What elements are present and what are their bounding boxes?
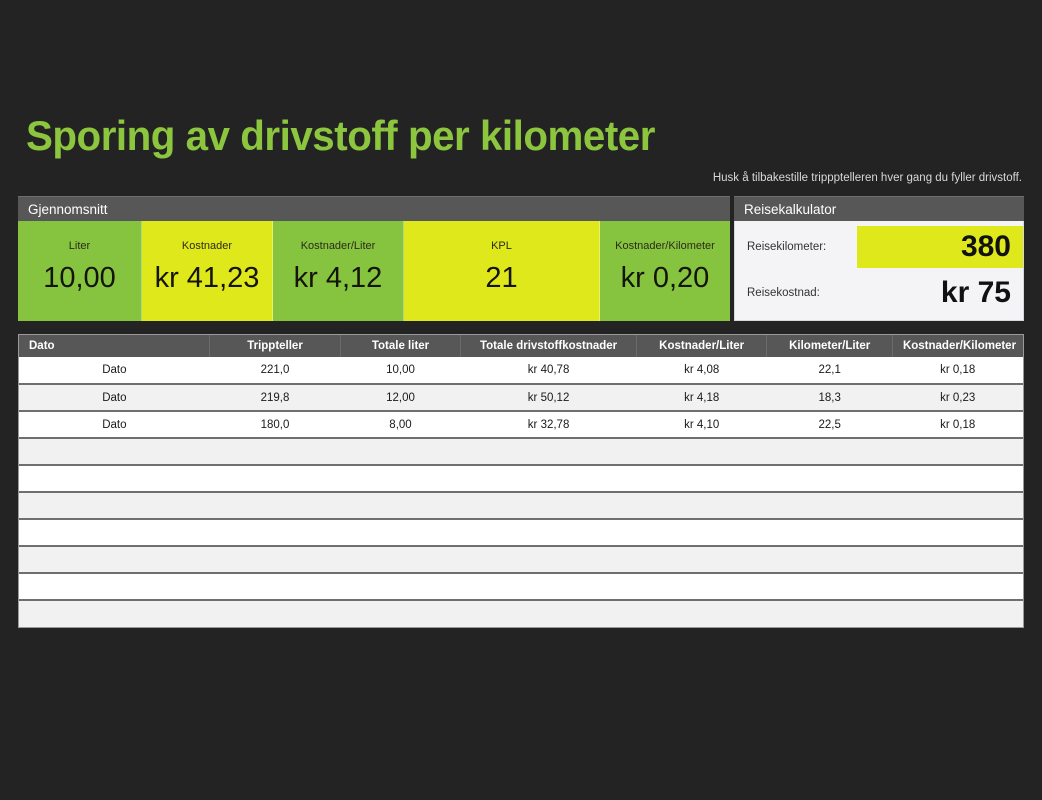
table-cell[interactable]	[19, 519, 210, 546]
summary-panels: Gjennomsnitt Liter10,00Kostnaderkr 41,23…	[18, 196, 1024, 321]
table-cell[interactable]	[636, 465, 767, 492]
page-subtitle: Husk å tilbakestille trippptelleren hver…	[713, 172, 1022, 184]
average-cell-label: Kostnader	[182, 240, 232, 253]
table-row: Dato219,812,00kr 50,12kr 4,1818,3kr 0,23	[19, 384, 1023, 411]
travel-cost-row: Reisekostnad: kr 75	[735, 271, 1023, 315]
table-cell[interactable]	[461, 465, 637, 492]
table-cell[interactable]	[210, 519, 341, 546]
travel-distance-input[interactable]: 380	[857, 226, 1023, 268]
travel-distance-row: Reisekilometer: 380	[735, 225, 1023, 269]
table-row: Dato221,010,00kr 40,78kr 4,0822,1kr 0,18	[19, 357, 1023, 384]
table-cell[interactable]	[210, 573, 341, 600]
travel-calculator-body: Reisekilometer: 380 Reisekostnad: kr 75	[734, 221, 1024, 321]
table-cell[interactable]: 22,5	[767, 411, 893, 438]
table-cell[interactable]	[767, 519, 893, 546]
table-cell[interactable]	[340, 519, 460, 546]
fuel-log-table-container: DatoTripptellerTotale literTotale drivst…	[18, 334, 1024, 628]
table-cell[interactable]	[210, 546, 341, 573]
table-cell[interactable]: kr 0,18	[892, 411, 1023, 438]
average-cell-label: Kostnader/Liter	[301, 240, 376, 253]
table-cell[interactable]	[767, 546, 893, 573]
table-cell[interactable]: 12,00	[340, 384, 460, 411]
average-cell-value: kr 41,23	[155, 262, 260, 294]
table-cell[interactable]	[19, 546, 210, 573]
table-cell[interactable]	[19, 492, 210, 519]
table-cell[interactable]	[461, 573, 637, 600]
table-cell[interactable]	[340, 573, 460, 600]
table-row	[19, 438, 1023, 465]
table-cell[interactable]: 219,8	[210, 384, 341, 411]
table-cell[interactable]	[19, 465, 210, 492]
table-cell[interactable]	[892, 438, 1023, 465]
table-cell[interactable]	[892, 600, 1023, 627]
table-cell[interactable]: 180,0	[210, 411, 341, 438]
table-cell[interactable]	[19, 573, 210, 600]
table-cell[interactable]	[19, 600, 210, 627]
average-cell-4: Kostnader/Kilometerkr 0,20	[600, 221, 730, 321]
table-row	[19, 465, 1023, 492]
average-cell-label: KPL	[491, 240, 512, 253]
table-cell[interactable]	[636, 600, 767, 627]
averages-row: Liter10,00Kostnaderkr 41,23Kostnader/Lit…	[18, 221, 730, 321]
average-cell-value: kr 4,12	[294, 262, 383, 294]
travel-calculator-heading: Reisekalkulator	[734, 196, 1024, 221]
table-cell[interactable]	[210, 492, 341, 519]
table-cell[interactable]	[892, 546, 1023, 573]
table-cell[interactable]	[210, 465, 341, 492]
fuel-log-table: DatoTripptellerTotale literTotale drivst…	[19, 335, 1023, 627]
table-cell[interactable]	[892, 492, 1023, 519]
table-cell[interactable]	[636, 546, 767, 573]
average-cell-0: Liter10,00	[18, 221, 142, 321]
table-row	[19, 546, 1023, 573]
table-cell[interactable]	[767, 600, 893, 627]
column-header-0[interactable]: Dato	[19, 335, 210, 357]
average-cell-1: Kostnaderkr 41,23	[142, 221, 273, 321]
table-cell[interactable]	[210, 600, 341, 627]
table-row	[19, 519, 1023, 546]
table-cell[interactable]: 10,00	[340, 357, 460, 384]
travel-distance-label: Reisekilometer:	[735, 241, 857, 253]
travel-cost-value: kr 75	[857, 272, 1023, 314]
table-cell[interactable]	[767, 492, 893, 519]
fuel-log-table-body: Dato221,010,00kr 40,78kr 4,0822,1kr 0,18…	[19, 357, 1023, 627]
table-cell[interactable]	[19, 438, 210, 465]
column-header-2[interactable]: Totale liter	[340, 335, 460, 357]
table-cell[interactable]	[636, 573, 767, 600]
table-cell[interactable]	[767, 573, 893, 600]
table-cell[interactable]: kr 4,08	[636, 357, 767, 384]
table-cell[interactable]: kr 50,12	[461, 384, 637, 411]
column-header-6[interactable]: Kostnader/Kilometer	[892, 335, 1023, 357]
table-cell[interactable]	[636, 519, 767, 546]
table-cell[interactable]: 221,0	[210, 357, 341, 384]
travel-cost-label: Reisekostnad:	[735, 287, 857, 299]
table-cell[interactable]	[461, 492, 637, 519]
table-cell[interactable]	[340, 546, 460, 573]
fuel-log-table-head: DatoTripptellerTotale literTotale drivst…	[19, 335, 1023, 357]
column-header-5[interactable]: Kilometer/Liter	[767, 335, 893, 357]
table-row	[19, 492, 1023, 519]
travel-calculator-panel: Reisekalkulator Reisekilometer: 380 Reis…	[734, 196, 1024, 321]
table-cell[interactable]	[461, 546, 637, 573]
table-cell[interactable]	[340, 492, 460, 519]
table-cell[interactable]: kr 32,78	[461, 411, 637, 438]
table-cell[interactable]	[636, 492, 767, 519]
table-row	[19, 573, 1023, 600]
table-row	[19, 600, 1023, 627]
table-cell[interactable]	[340, 465, 460, 492]
averages-heading: Gjennomsnitt	[18, 196, 730, 221]
table-cell[interactable]	[340, 600, 460, 627]
table-row: Dato180,08,00kr 32,78kr 4,1022,5kr 0,18	[19, 411, 1023, 438]
spreadsheet-page: Sporing av drivstoff per kilometer Husk …	[0, 0, 1042, 800]
averages-panel: Gjennomsnitt Liter10,00Kostnaderkr 41,23…	[18, 196, 730, 321]
column-header-4[interactable]: Kostnader/Liter	[636, 335, 767, 357]
table-cell[interactable]: kr 4,18	[636, 384, 767, 411]
table-cell[interactable]: Dato	[19, 384, 210, 411]
average-cell-2: Kostnader/Literkr 4,12	[273, 221, 404, 321]
table-cell[interactable]	[210, 438, 341, 465]
table-cell[interactable]	[461, 600, 637, 627]
average-cell-value: kr 0,20	[621, 262, 710, 294]
average-cell-value: 21	[485, 262, 517, 294]
page-title: Sporing av drivstoff per kilometer	[26, 112, 655, 160]
average-cell-3: KPL21	[404, 221, 600, 321]
table-header-row: DatoTripptellerTotale literTotale drivst…	[19, 335, 1023, 357]
table-cell[interactable]: Dato	[19, 411, 210, 438]
average-cell-label: Kostnader/Kilometer	[615, 240, 715, 253]
average-cell-label: Liter	[69, 240, 90, 253]
table-cell[interactable]	[636, 438, 767, 465]
table-cell[interactable]	[892, 465, 1023, 492]
column-header-3[interactable]: Totale drivstoffkostnader	[461, 335, 637, 357]
table-cell[interactable]: kr 4,10	[636, 411, 767, 438]
table-cell[interactable]: 18,3	[767, 384, 893, 411]
table-cell[interactable]: 8,00	[340, 411, 460, 438]
table-cell[interactable]	[767, 465, 893, 492]
average-cell-value: 10,00	[43, 262, 116, 294]
table-cell[interactable]	[461, 519, 637, 546]
table-cell[interactable]	[892, 519, 1023, 546]
table-cell[interactable]: kr 0,23	[892, 384, 1023, 411]
table-cell[interactable]: kr 0,18	[892, 357, 1023, 384]
table-cell[interactable]: 22,1	[767, 357, 893, 384]
table-cell[interactable]	[340, 438, 460, 465]
table-cell[interactable]	[767, 438, 893, 465]
table-cell[interactable]	[892, 573, 1023, 600]
table-cell[interactable]: kr 40,78	[461, 357, 637, 384]
column-header-1[interactable]: Trippteller	[210, 335, 341, 357]
table-cell[interactable]	[461, 438, 637, 465]
table-cell[interactable]: Dato	[19, 357, 210, 384]
